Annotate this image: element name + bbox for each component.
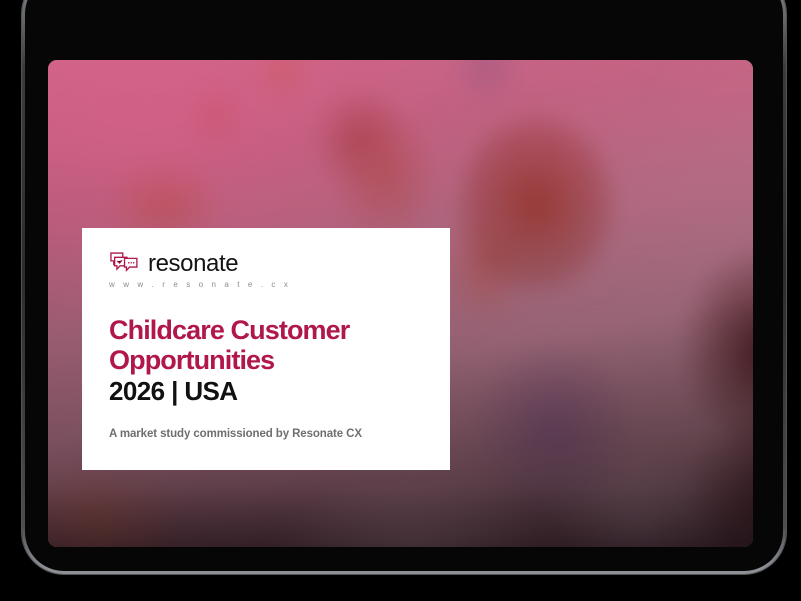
brand-wordmark: resonate: [148, 252, 238, 276]
brand-url: w w w . r e s o n a t e . c x: [109, 280, 428, 289]
brand-logo[interactable]: resonate: [109, 251, 428, 276]
title-line-3: 2026 | USA: [109, 377, 428, 406]
tablet-screen[interactable]: resonate w w w . r e s o n a t e . c x C…: [48, 60, 753, 547]
speech-bubbles-icon: [109, 251, 139, 276]
cover-card-inner: resonate w w w . r e s o n a t e . c x C…: [109, 251, 428, 440]
cover-byline: A market study commissioned by Resonate …: [109, 428, 428, 440]
title-line-1: Childcare Customer: [109, 316, 428, 346]
tablet-device-frame: resonate w w w . r e s o n a t e . c x C…: [22, 0, 786, 574]
cover-title-block: Childcare Customer Opportunities 2026 | …: [109, 316, 428, 406]
screenshot-stage: resonate w w w . r e s o n a t e . c x C…: [0, 0, 801, 601]
cover-content-card: resonate w w w . r e s o n a t e . c x C…: [82, 228, 450, 470]
title-line-2: Opportunities: [109, 346, 428, 376]
